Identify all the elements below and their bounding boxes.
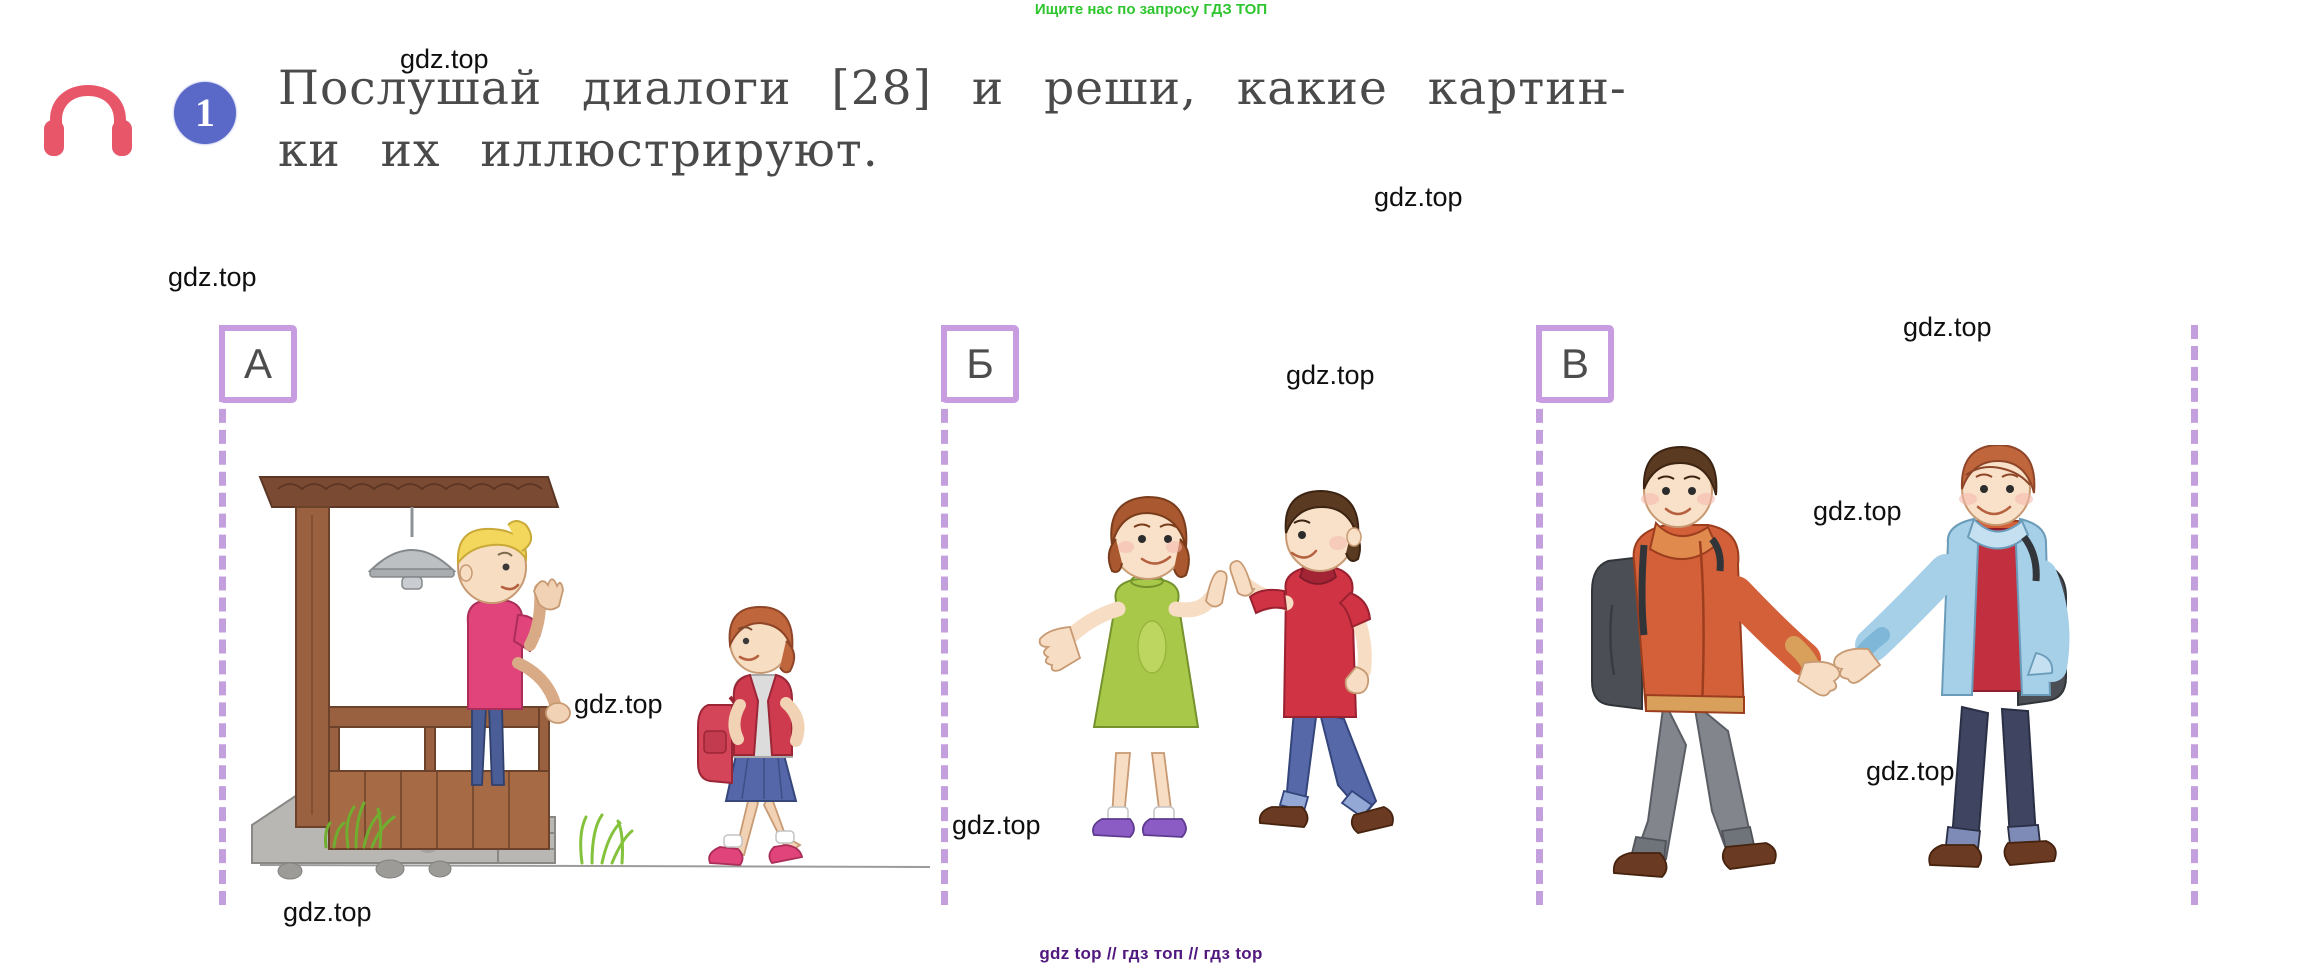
- illustration-b: [1020, 485, 1440, 905]
- task-text-line-1: Послушай диалоги [28] и реши, какие карт…: [278, 58, 2253, 120]
- watermark-gdz-top: gdz.top: [168, 262, 257, 293]
- footer-watermark: gdz top // гдз топ // гдз top: [0, 944, 2302, 964]
- watermark-gdz-top: gdz.top: [574, 689, 663, 720]
- watermark-gdz-top: gdz.top: [400, 44, 489, 75]
- panel-label-v[interactable]: В: [1536, 325, 1614, 403]
- answer-options-panel: А Б В: [0, 325, 2302, 925]
- task-text-line-2: ки их иллюстрируют.: [278, 120, 2253, 182]
- watermark-gdz-top: gdz.top: [1866, 756, 1955, 787]
- watermark-gdz-top: gdz.top: [1374, 182, 1463, 213]
- watermark-gdz-top: gdz.top: [283, 897, 372, 928]
- illustration-a: [230, 455, 930, 905]
- watermark-gdz-top: gdz.top: [1286, 360, 1375, 391]
- watermark-gdz-top: gdz.top: [1813, 496, 1902, 527]
- panel-label-a[interactable]: А: [219, 325, 297, 403]
- panel-divider-1: [941, 325, 948, 905]
- task-number-badge: 1: [174, 82, 236, 144]
- panel-divider-2: [1536, 325, 1543, 905]
- panel-label-b[interactable]: Б: [941, 325, 1019, 403]
- exercise-header: 1 Послушай диалоги [28] и реши, какие ка…: [40, 58, 2270, 182]
- headphones-icon: [40, 78, 136, 158]
- promo-banner: Ищите нас по запросу ГДЗ ТОП: [0, 0, 2302, 20]
- page-title: Послушай диалоги [28] и реши, какие карт…: [278, 58, 2253, 182]
- watermark-gdz-top: gdz.top: [952, 810, 1041, 841]
- watermark-gdz-top: gdz.top: [1903, 312, 1992, 343]
- panel-divider-left: [219, 325, 226, 905]
- panel-divider-right: [2191, 325, 2198, 905]
